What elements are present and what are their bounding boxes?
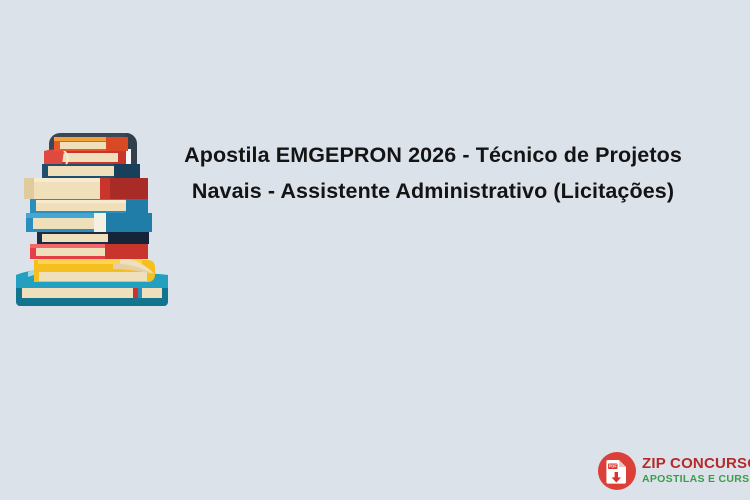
book-red-small xyxy=(44,150,126,165)
svg-text:PDF: PDF xyxy=(609,464,618,469)
book-orange xyxy=(54,137,128,151)
brand-text: ZIP CONCURSOS APOSTILAS E CURSOS xyxy=(642,456,750,486)
brand-tagline: APOSTILAS E CURSOS xyxy=(642,473,750,486)
brand-logo[interactable]: PDF ZIP CONCURSOS APOSTILAS E CURSOS xyxy=(597,449,747,493)
book-cream xyxy=(30,198,148,213)
product-banner: Apostila EMGEPRON 2026 - Técnico de Proj… xyxy=(0,0,750,500)
book-blue xyxy=(26,213,152,232)
book-darkred xyxy=(24,178,148,199)
product-title-line-1: Apostila EMGEPRON 2026 - Técnico de Proj… xyxy=(168,137,698,173)
product-title: Apostila EMGEPRON 2026 - Técnico de Proj… xyxy=(168,133,698,213)
product-title-line-2: Navais - Assistente Administrativo (Lici… xyxy=(168,173,698,209)
books-illustration xyxy=(8,120,178,315)
book-navy-slim xyxy=(37,232,149,244)
pdf-download-icon: PDF xyxy=(597,451,637,491)
book-red xyxy=(30,244,148,259)
book-navy xyxy=(42,164,140,178)
book-yellow xyxy=(34,256,155,282)
brand-name: ZIP CONCURSOS xyxy=(642,456,750,472)
